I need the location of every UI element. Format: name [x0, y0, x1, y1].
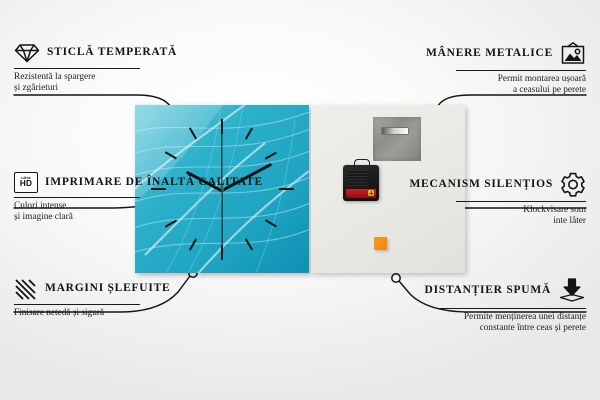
feature-metal-handles: MÂNERE METALICE Permit montarea ușoară a… — [456, 42, 586, 97]
feature-header: MECANISM SILENȚIOS — [456, 172, 586, 197]
tick-3 — [279, 188, 294, 190]
feature-description: Culori intense și imagine clară — [14, 201, 144, 224]
tick-8 — [165, 220, 177, 228]
infographic-canvas: STICLĂ TEMPERATĂ Rezistentă la spargere … — [0, 0, 600, 400]
tick-5 — [245, 238, 253, 250]
ultra-hd-icon-main-text: HD — [20, 180, 32, 188]
feature-header: MARGINI ȘLEFUITE — [14, 278, 144, 300]
feature-silent-mechanism: MECANISM SILENȚIOS Klockvisare som inte … — [456, 172, 586, 228]
battery-terminal — [368, 190, 374, 196]
feature-description: Permit montarea ușoară a ceasului pe per… — [456, 74, 586, 97]
feature-divider — [14, 197, 140, 198]
tick-10 — [165, 152, 177, 160]
feature-description: Rezistentă la spargere și zgârieturi — [14, 72, 144, 95]
feature-title: STICLĂ TEMPERATĂ — [47, 46, 177, 60]
feature-divider — [14, 304, 140, 305]
feature-title: DISTANȚIER SPUMĂ — [425, 284, 551, 298]
mechanism-loop — [354, 159, 370, 169]
metal-hanger — [373, 117, 421, 161]
feature-divider — [456, 201, 586, 202]
feature-title: MARGINI ȘLEFUITE — [45, 282, 170, 296]
feature-divider — [14, 68, 140, 69]
second-hand — [221, 190, 222, 244]
feature-foam-spacer: DISTANȚIER SPUMĂ Permite menținerea unei… — [436, 278, 586, 335]
leader-node-foam-spacer — [392, 274, 400, 282]
mechanism-label — [347, 170, 367, 186]
hanger-slot — [381, 127, 409, 135]
tick-11 — [189, 127, 197, 139]
feature-description: Permite menținerea unei distanțe constan… — [436, 312, 586, 335]
tick-7 — [189, 238, 197, 250]
hanging-frame-icon — [560, 42, 586, 66]
battery — [346, 189, 376, 198]
feature-high-quality-print: ultra HD IMPRIMARE DE ÎNALTĂ CALITATE Cu… — [14, 172, 144, 224]
tick-6 — [221, 245, 223, 260]
feature-description: Klockvisare som inte låter — [456, 205, 586, 228]
feature-header: MÂNERE METALICE — [456, 42, 586, 66]
diagonal-lines-icon — [14, 278, 38, 300]
diamond-icon — [14, 42, 40, 64]
tick-2 — [265, 152, 277, 160]
feature-polished-edges: MARGINI ȘLEFUITE Finisare netedă și sigu… — [14, 278, 144, 319]
feature-title: MECANISM SILENȚIOS — [409, 178, 553, 192]
feature-tempered-glass: STICLĂ TEMPERATĂ Rezistentă la spargere … — [14, 42, 144, 95]
arrow-down-layer-icon — [558, 278, 586, 304]
tick-1 — [245, 127, 253, 139]
feature-description: Finisare netedă și sigură — [14, 308, 144, 319]
feature-header: ultra HD IMPRIMARE DE ÎNALTĂ CALITATE — [14, 172, 144, 193]
quartz-mechanism — [343, 165, 379, 201]
gear-icon — [560, 172, 586, 197]
ultra-hd-icon: ultra HD — [14, 172, 38, 193]
feature-header: DISTANȚIER SPUMĂ — [436, 278, 586, 304]
feature-title: MÂNERE METALICE — [426, 47, 553, 61]
feature-divider — [456, 70, 586, 71]
tick-4 — [265, 220, 277, 228]
feature-title: IMPRIMARE DE ÎNALTĂ CALITATE — [45, 176, 263, 190]
feature-header: STICLĂ TEMPERATĂ — [14, 42, 144, 64]
foam-spacer — [374, 237, 387, 250]
feature-divider — [436, 308, 586, 309]
